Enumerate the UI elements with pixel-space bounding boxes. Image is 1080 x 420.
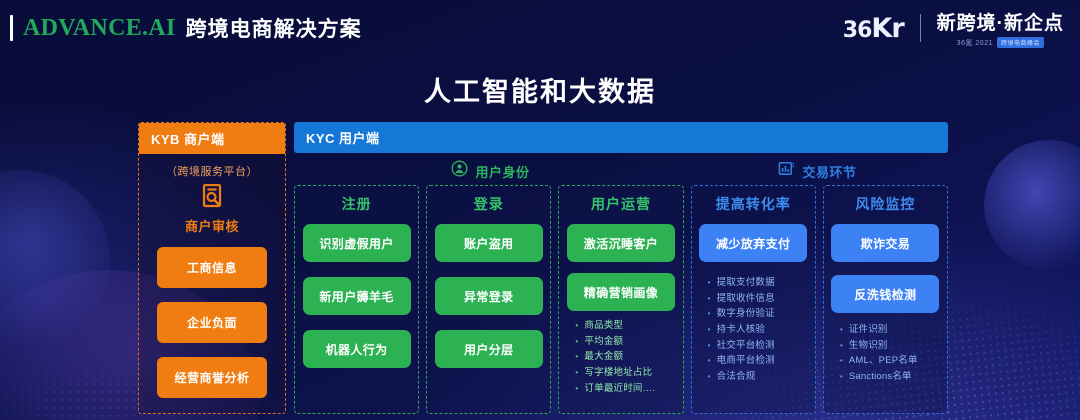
bullet-label: 证件识别 — [849, 322, 888, 338]
panel-bullet: •持卡人核验 — [708, 322, 809, 338]
bullet-label: 提取支付数据 — [717, 275, 775, 291]
bullet-label: 生物识别 — [849, 338, 888, 354]
panel-title: 登录 — [474, 194, 504, 214]
bullet-dot-icon: • — [840, 326, 843, 334]
bullet-label: 社交平台检测 — [717, 338, 775, 354]
panel-bullet: •AML、PEP名单 — [840, 353, 941, 369]
panel-chip[interactable]: 异常登录 — [435, 277, 543, 315]
bullet-dot-icon: • — [708, 326, 711, 334]
brand-rule — [10, 15, 13, 41]
bullet-dot-icon: • — [575, 322, 578, 330]
panel-chip[interactable]: 账户盗用 — [435, 224, 543, 262]
kyc-group-label: 用户身份 — [475, 162, 529, 181]
brand-name: ADVANCE.AI — [23, 15, 176, 42]
bullet-dot-icon: • — [708, 342, 711, 350]
kyc-panel-register: 注册 识别虚假用户 新用户薅羊毛 机器人行为 — [294, 185, 419, 414]
partner-badge: 跨境电商峰会 — [997, 37, 1044, 48]
panel-title: 用户运营 — [591, 194, 651, 214]
kyc-panels: 注册 识别虚假用户 新用户薅羊毛 机器人行为 登录 账户盗用 异常登录 用户分层… — [294, 185, 948, 414]
bullet-dot-icon: • — [840, 357, 843, 365]
kyb-button[interactable]: 企业负面 — [157, 302, 267, 343]
kyc-panel-user-operation: 用户运营 激活沉睡客户 精确营销画像 •商品类型 •平均金额 •最大金额 •写字… — [558, 185, 683, 414]
kyc-group-label: 交易环节 — [802, 162, 856, 181]
36kr-logo: 36Kr — [843, 13, 904, 44]
panel-bullet: •社交平台检测 — [708, 338, 809, 354]
bullet-dot-icon: • — [575, 338, 578, 346]
panel-chip[interactable]: 识别虚假用户 — [303, 224, 411, 262]
panel-bullet: •提取支付数据 — [708, 275, 809, 291]
bullet-dot-icon: • — [708, 357, 711, 365]
panel-bullet: •证件识别 — [840, 322, 941, 338]
panel-bullet: •Sanctions名单 — [840, 369, 941, 385]
kyc-group-labels: 用户身份 交易环节 — [294, 153, 948, 185]
panel-bullet: •最大金额 — [575, 349, 676, 365]
36kr-logo-36: 36 — [843, 18, 872, 43]
bullet-dot-icon: • — [708, 279, 711, 287]
panel-bullet: •电商平台检测 — [708, 353, 809, 369]
bullet-dot-icon: • — [840, 373, 843, 381]
kyb-subtitle: （跨境服务平台） — [166, 163, 258, 179]
kyb-column: KYB 商户端 （跨境服务平台） 商户审核 工商信息 企业负面 经营商誉分析 — [138, 122, 286, 414]
bullet-label: 电商平台检测 — [717, 353, 775, 369]
36kr-logo-kr: Kr — [871, 13, 903, 44]
kyb-button[interactable]: 经营商誉分析 — [157, 357, 267, 398]
partner-badge-row: 36氪 2021 跨境电商峰会 — [957, 37, 1044, 48]
panel-chip[interactable]: 新用户薅羊毛 — [303, 277, 411, 315]
bullet-label: 合法合规 — [717, 369, 756, 385]
document-search-icon — [201, 184, 223, 213]
partner-title-block: 新跨境·新企点 36氪 2021 跨境电商峰会 — [937, 8, 1064, 48]
panel-bullet: •写字楼地址占比 — [575, 365, 676, 381]
brand-lockup: ADVANCE.AI 跨境电商解决方案 — [10, 13, 362, 43]
bullet-label: 写字楼地址占比 — [584, 365, 652, 381]
panel-bullet: •生物识别 — [840, 338, 941, 354]
kyb-button[interactable]: 工商信息 — [157, 247, 267, 288]
bullet-label: AML、PEP名单 — [849, 353, 918, 369]
bar-chart-icon — [778, 160, 795, 182]
partner-lockup: 36Kr 新跨境·新企点 36氪 2021 跨境电商峰会 — [843, 8, 1064, 48]
bullet-dot-icon: • — [575, 385, 578, 393]
panel-bullet-list: •商品类型 •平均金额 •最大金额 •写字楼地址占比 •订单最近时间…. — [565, 318, 676, 396]
kyc-column: KYC 用户端 用户身份 — [294, 122, 948, 414]
panel-title: 提高转化率 — [716, 194, 791, 214]
kyc-panel-risk-monitoring: 风险监控 欺诈交易 反洗钱检测 •证件识别 •生物识别 •AML、PEP名单 •… — [823, 185, 948, 414]
kyb-body: （跨境服务平台） 商户审核 工商信息 企业负面 经营商誉分析 — [139, 154, 285, 413]
panel-title: 风险监控 — [855, 194, 915, 214]
bullet-dot-icon: • — [575, 353, 578, 361]
kyc-panel-conversion: 提高转化率 减少放弃支付 •提取支付数据 •提取收件信息 •数字身份验证 •持卡… — [691, 185, 816, 414]
kyb-button-list: 工商信息 企业负面 经营商誉分析 — [139, 247, 285, 398]
kyc-group-transaction: 交易环节 — [687, 160, 948, 182]
panel-chip[interactable]: 激活沉睡客户 — [567, 224, 675, 262]
panel-chip[interactable]: 精确营销画像 — [567, 273, 675, 311]
partner-year: 36氪 2021 — [957, 38, 993, 48]
kyb-audit-label: 商户审核 — [185, 216, 239, 235]
top-bar: ADVANCE.AI 跨境电商解决方案 36Kr 新跨境·新企点 36氪 202… — [0, 0, 1080, 56]
panel-bullet-list: •提取支付数据 •提取收件信息 •数字身份验证 •持卡人核验 •社交平台检测 •… — [698, 275, 809, 385]
kyc-panel-login: 登录 账户盗用 异常登录 用户分层 — [426, 185, 551, 414]
bullet-label: 提取收件信息 — [717, 291, 775, 307]
brand-subtitle: 跨境电商解决方案 — [186, 13, 362, 43]
panel-bullet: •数字身份验证 — [708, 306, 809, 322]
user-circle-icon — [451, 160, 468, 182]
bullet-label: 订单最近时间…. — [584, 381, 655, 397]
bullet-label: 持卡人核验 — [717, 322, 766, 338]
panel-title: 注册 — [342, 194, 372, 214]
panel-chip[interactable]: 机器人行为 — [303, 330, 411, 368]
bullet-label: 数字身份验证 — [717, 306, 775, 322]
panel-chip[interactable]: 减少放弃支付 — [699, 224, 807, 262]
panel-bullet: •合法合规 — [708, 369, 809, 385]
partner-divider — [920, 14, 921, 42]
bullet-dot-icon: • — [708, 310, 711, 318]
panel-bullet-list: •证件识别 •生物识别 •AML、PEP名单 •Sanctions名单 — [830, 322, 941, 385]
panel-chip[interactable]: 反洗钱检测 — [831, 275, 939, 313]
bullet-label: Sanctions名单 — [849, 369, 912, 385]
partner-title: 新跨境·新企点 — [937, 8, 1064, 35]
kyb-header: KYB 商户端 — [139, 123, 285, 154]
bullet-dot-icon: • — [708, 295, 711, 303]
panel-chip[interactable]: 用户分层 — [435, 330, 543, 368]
page-title: 人工智能和大数据 — [0, 70, 1080, 109]
kyc-header: KYC 用户端 — [294, 122, 948, 153]
panel-bullet: •提取收件信息 — [708, 291, 809, 307]
panel-bullet: •订单最近时间…. — [575, 381, 676, 397]
panel-chip[interactable]: 欺诈交易 — [831, 224, 939, 262]
bullet-label: 商品类型 — [584, 318, 623, 334]
bullet-dot-icon: • — [708, 373, 711, 381]
bullet-dot-icon: • — [575, 369, 578, 377]
diagram: KYB 商户端 （跨境服务平台） 商户审核 工商信息 企业负面 经营商誉分析 K… — [138, 122, 948, 414]
panel-bullet: •商品类型 — [575, 318, 676, 334]
bullet-dot-icon: • — [840, 342, 843, 350]
kyc-group-identity: 用户身份 — [294, 160, 687, 182]
bullet-label: 最大金额 — [584, 349, 623, 365]
bullet-label: 平均金额 — [584, 334, 623, 350]
panel-bullet: •平均金额 — [575, 334, 676, 350]
